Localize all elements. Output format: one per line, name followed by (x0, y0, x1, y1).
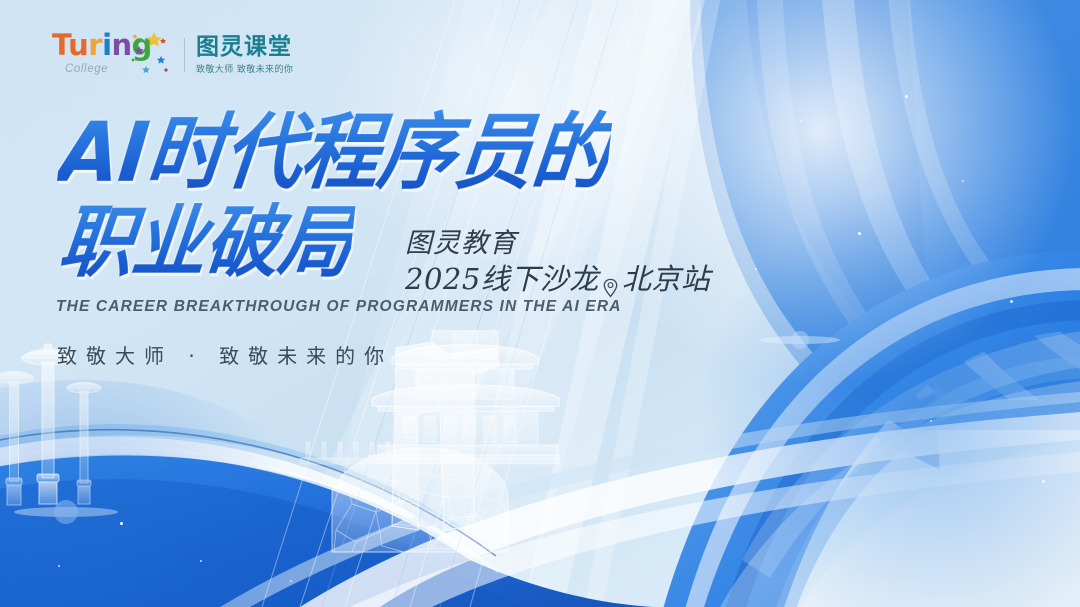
subtitle-english: THE CAREER BREAKTHROUGH OF PROGRAMMERS I… (56, 298, 622, 316)
temple-of-heaven (368, 330, 560, 463)
brand-logo[interactable]: Turing College 图灵课堂 致敬大师 致敬未来的你 (52, 26, 293, 84)
turing-college-logo: Turing College (52, 27, 140, 83)
headline-line-1: AI时代程序员的 (55, 107, 614, 200)
foreground-railing (300, 442, 560, 464)
beijing-landmarks-silhouette (0, 330, 560, 607)
water-cube (332, 448, 508, 552)
headline-line-2: 职业破局 (55, 199, 356, 286)
cctv-tower-silhouette (378, 340, 508, 540)
event-info-block: 图灵教育 2025线下沙龙 北京站 (405, 228, 710, 296)
logo-cn-name: 图灵课堂 (196, 35, 293, 59)
map-pin-icon (602, 271, 619, 291)
glow-bottom-left (0, 380, 340, 607)
event-city: 北京站 (622, 262, 711, 296)
event-poster: Turing College 图灵课堂 致敬大师 致敬未来的你 AI时代程序员的 (0, 0, 1080, 607)
headline-line-1-row: AI时代程序员的 (55, 112, 755, 204)
event-organizer: 图灵教育 (405, 228, 710, 260)
college-label: College (65, 63, 108, 75)
logo-cn-tagline: 致敬大师 致敬未来的你 (196, 62, 293, 75)
poster-tagline: 致敬大师 · 致敬未来的你 (57, 340, 393, 369)
glow-right (700, 180, 1080, 607)
event-session: 2025线下沙龙 (405, 262, 599, 296)
event-session-line: 2025线下沙龙 北京站 (405, 262, 710, 296)
logo-divider (184, 38, 185, 72)
logo-chinese-block: 图灵课堂 致敬大师 致敬未来的你 (196, 35, 293, 75)
decorative-stars-icon (130, 26, 170, 84)
